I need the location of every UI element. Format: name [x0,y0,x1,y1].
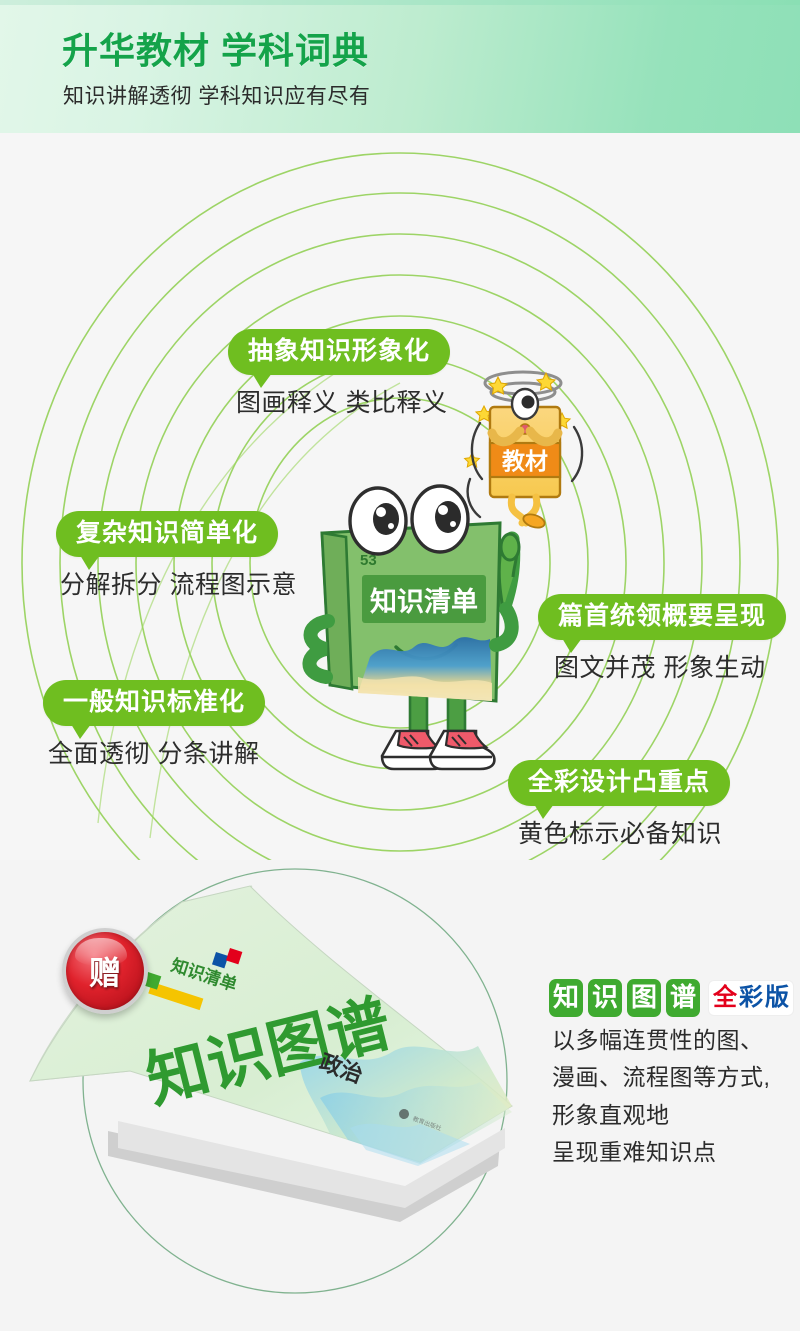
book-mascot-illustration: 教材 [300,353,630,783]
feature-pill-3-label: 一般知识标准化 [63,688,245,716]
full-color-badge: 全 彩 版 [709,981,793,1015]
textbook-character: 教材 [465,372,582,530]
atlas-description-line-3: 形象直观地 [552,1097,770,1134]
feature-sub-6: 黄色标示必备知识 [518,814,722,850]
atlas-title-char-2: 识 [588,979,622,1017]
page-title: 升华教材 学科词典 [62,22,369,74]
atlas-title: 知 识 图 谱 全 彩 版 [549,979,793,1017]
atlas-description-line-2: 漫画、流程图等方式, [552,1059,770,1096]
feature-pill-2[interactable]: 复杂知识简单化 [56,511,278,557]
full-color-char-1: 全 [712,984,738,1012]
atlas-title-char-3: 图 [627,979,661,1017]
gift-badge[interactable]: 赠 [62,928,148,1014]
page-header: 升华教材 学科词典 知识讲解透彻 学科知识应有尽有 [0,0,800,133]
full-color-char-2: 彩 [738,984,764,1012]
right-shoe [430,731,494,769]
book-cover-title: 知识清单 [370,587,478,617]
atlas-title-char-1: 知 [549,979,583,1017]
gift-badge-label: 赠 [66,932,144,1010]
atlas-description-line-4: 呈现重难知识点 [552,1134,770,1171]
atlas-title-char-4: 谱 [666,979,700,1017]
page-subtitle: 知识讲解透彻 学科知识应有尽有 [63,80,370,110]
atlas-description-line-1: 以多幅连贯性的图、 [552,1022,770,1059]
atlas-description: 以多幅连贯性的图、 漫画、流程图等方式, 形象直观地 呈现重难知识点 [552,1022,770,1171]
full-color-char-3: 版 [764,984,790,1012]
textbook-label: 教材 [502,448,548,474]
feature-pill-2-label: 复杂知识简单化 [76,519,258,547]
features-section: 抽象知识形象化 图画释义 类比释义 复杂知识简单化 分解拆分 流程图示意 一般知… [0,133,800,860]
feature-pill-3[interactable]: 一般知识标准化 [43,680,265,726]
feature-sub-3: 全面透彻 分条讲解 [48,734,259,770]
feature-sub-2: 分解拆分 流程图示意 [60,565,297,601]
